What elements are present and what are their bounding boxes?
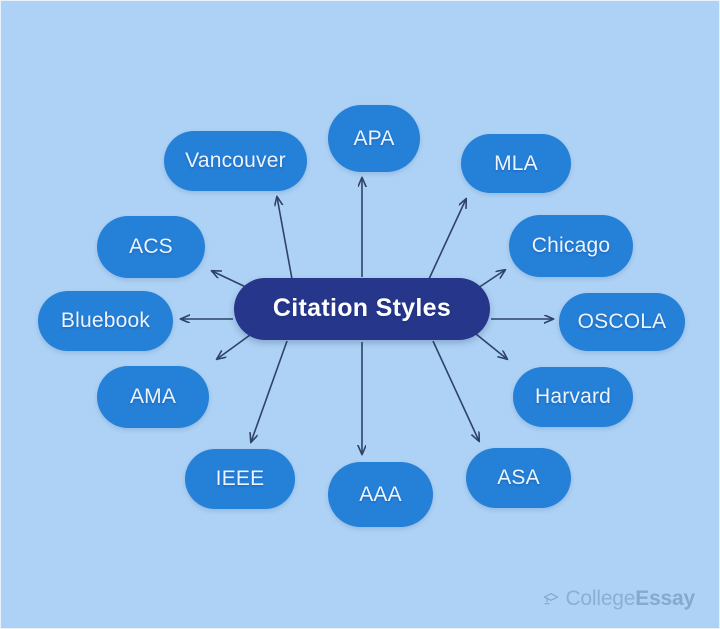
node-ieee[interactable]: IEEE [185, 449, 295, 509]
watermark-collegeessay: CollegeEssay [543, 587, 695, 611]
node-acs[interactable]: ACS [97, 216, 205, 278]
node-mla[interactable]: MLA [461, 134, 571, 193]
arrow-center-to-mla [429, 199, 466, 279]
node-label-mla: MLA [494, 152, 538, 175]
node-label-ama: AMA [130, 385, 176, 408]
node-chicago[interactable]: Chicago [509, 215, 633, 277]
center-node-citation-styles[interactable]: Citation Styles [234, 278, 490, 340]
node-label-harvard: Harvard [535, 385, 611, 408]
center-node-label: Citation Styles [273, 295, 451, 323]
node-label-vancouver: Vancouver [185, 149, 286, 172]
node-vancouver[interactable]: Vancouver [164, 131, 307, 191]
graduation-cap-icon [543, 591, 559, 607]
node-asa[interactable]: ASA [466, 448, 571, 508]
node-label-aaa: AAA [359, 483, 402, 506]
diagram-canvas: APAVancouverMLAACSChicagoBluebookOSCOLAA… [0, 0, 720, 629]
node-apa[interactable]: APA [328, 105, 420, 172]
node-label-bluebook: Bluebook [61, 309, 150, 332]
watermark-text-bold: Essay [635, 587, 695, 610]
node-ama[interactable]: AMA [97, 366, 209, 428]
watermark-text: CollegeEssay [565, 587, 695, 611]
arrow-center-to-vancouver [277, 197, 292, 279]
arrow-center-to-harvard [476, 334, 507, 359]
node-label-oscola: OSCOLA [578, 310, 667, 333]
node-bluebook[interactable]: Bluebook [38, 291, 173, 351]
node-label-chicago: Chicago [532, 234, 610, 257]
node-oscola[interactable]: OSCOLA [559, 293, 685, 351]
node-label-asa: ASA [497, 466, 540, 489]
node-label-acs: ACS [129, 235, 173, 258]
node-label-ieee: IEEE [216, 467, 265, 490]
watermark-text-light: College [565, 587, 635, 610]
arrow-center-to-ieee [251, 341, 287, 442]
node-aaa[interactable]: AAA [328, 462, 433, 527]
arrow-center-to-asa [433, 341, 479, 441]
node-harvard[interactable]: Harvard [513, 367, 633, 427]
node-label-apa: APA [353, 127, 394, 150]
arrow-center-to-ama [217, 335, 250, 359]
